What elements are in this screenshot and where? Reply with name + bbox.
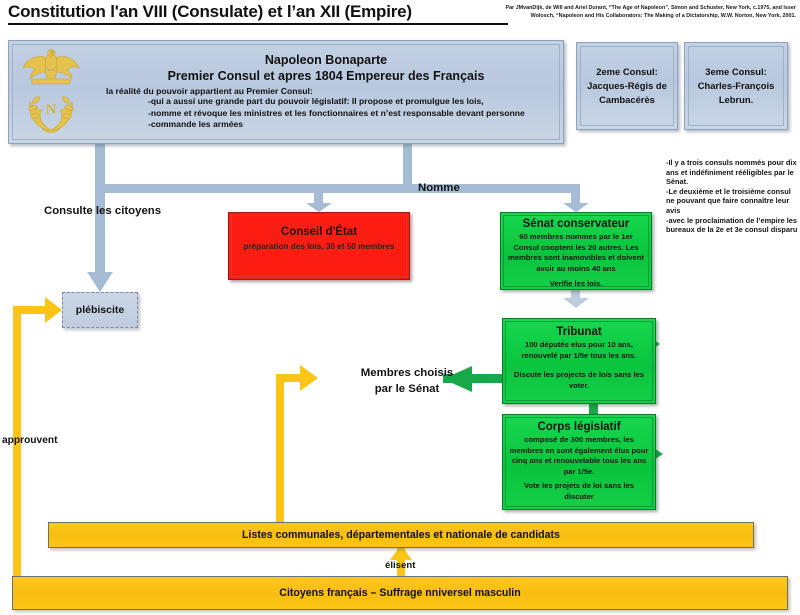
consul-3-box: 3eme Consul: Charles-François Lebrun. — [684, 42, 788, 130]
senat-inner-border — [503, 215, 649, 287]
corps-legislatif-box: Corps législatif composé de 300 membres,… — [502, 414, 656, 510]
senat-conservateur-box: Sénat conservateur 60 membres nommes par… — [500, 212, 652, 290]
side-notes: -Il y a trois consuls nommés pour dix an… — [666, 158, 798, 235]
label-nomme: Nomme — [418, 182, 460, 194]
citoyens-francais-bar: Citoyens français – Suffrage nniversel m… — [12, 576, 788, 610]
arrow-napoleon-nomme — [96, 144, 589, 212]
label-membres-choisis-par-le-senat: Membres choisis par le Sénat — [322, 365, 492, 397]
arrow-listes-to-membres — [276, 365, 318, 524]
napoleonic-eagle-laurel-emblem: N — [18, 46, 84, 138]
napoleon-bullet-2: -nomme et révoque les ministres et les f… — [96, 108, 556, 120]
corps-inner-border — [505, 417, 653, 507]
conseil-inner-border — [231, 215, 407, 277]
label-consulte-les-citoyens: Consulte les citoyens — [44, 205, 161, 217]
page-title: Constitution l'an VIII (Consulate) et l’… — [8, 2, 508, 25]
arrow-senat-stub — [563, 290, 589, 308]
source-citation: Par JMvanDijk, de Will and Ariel Durant,… — [500, 4, 796, 20]
tribunat-inner-border — [505, 321, 653, 401]
arrow-napoleon-to-plebiscite — [87, 144, 113, 292]
arrow-nomme-left-leg — [96, 184, 105, 194]
listes-candidats-bar: Listes communales, départementales et na… — [48, 522, 754, 548]
plebiscite-box: plébiscite — [62, 292, 138, 328]
napoleon-reality-line: la réalité du pouvoir appartient au Prem… — [96, 86, 556, 96]
napoleon-text-block: Napoleon Bonaparte Premier Consul et apr… — [96, 47, 556, 142]
consul-3-label: 3eme Consul: Charles-François Lebrun. — [689, 65, 783, 107]
listes-candidats-label: Listes communales, départementales et na… — [49, 529, 753, 541]
consul-2-box: 2eme Consul: Jacques-Régis de Cambacérès — [576, 42, 678, 130]
consul-2-label: 2eme Consul: Jacques-Régis de Cambacérès — [581, 65, 673, 107]
citoyens-francais-label: Citoyens français – Suffrage nniversel m… — [13, 587, 787, 599]
napoleon-bullet-1: -qui a aussi une grande part du pouvoir … — [96, 96, 556, 108]
tribunat-box: Tribunat 100 députés elus pour 10 ans, r… — [502, 318, 656, 404]
label-approuvent: approuvent — [2, 435, 57, 446]
label-elisent: élisent — [385, 560, 415, 571]
napoleon-role: Premier Consul et apres 1804 Empereur de… — [96, 69, 556, 83]
diagram-canvas: Constitution l'an VIII (Consulate) et l’… — [0, 0, 800, 615]
plebiscite-label: plébiscite — [63, 304, 137, 316]
napoleon-name: Napoleon Bonaparte — [96, 53, 556, 67]
napoleon-bullet-3: -commande les armées — [96, 119, 556, 131]
conseil-detat-box: Conseil d'État préparation des lois, 30 … — [228, 212, 410, 280]
svg-text:N: N — [46, 102, 57, 118]
